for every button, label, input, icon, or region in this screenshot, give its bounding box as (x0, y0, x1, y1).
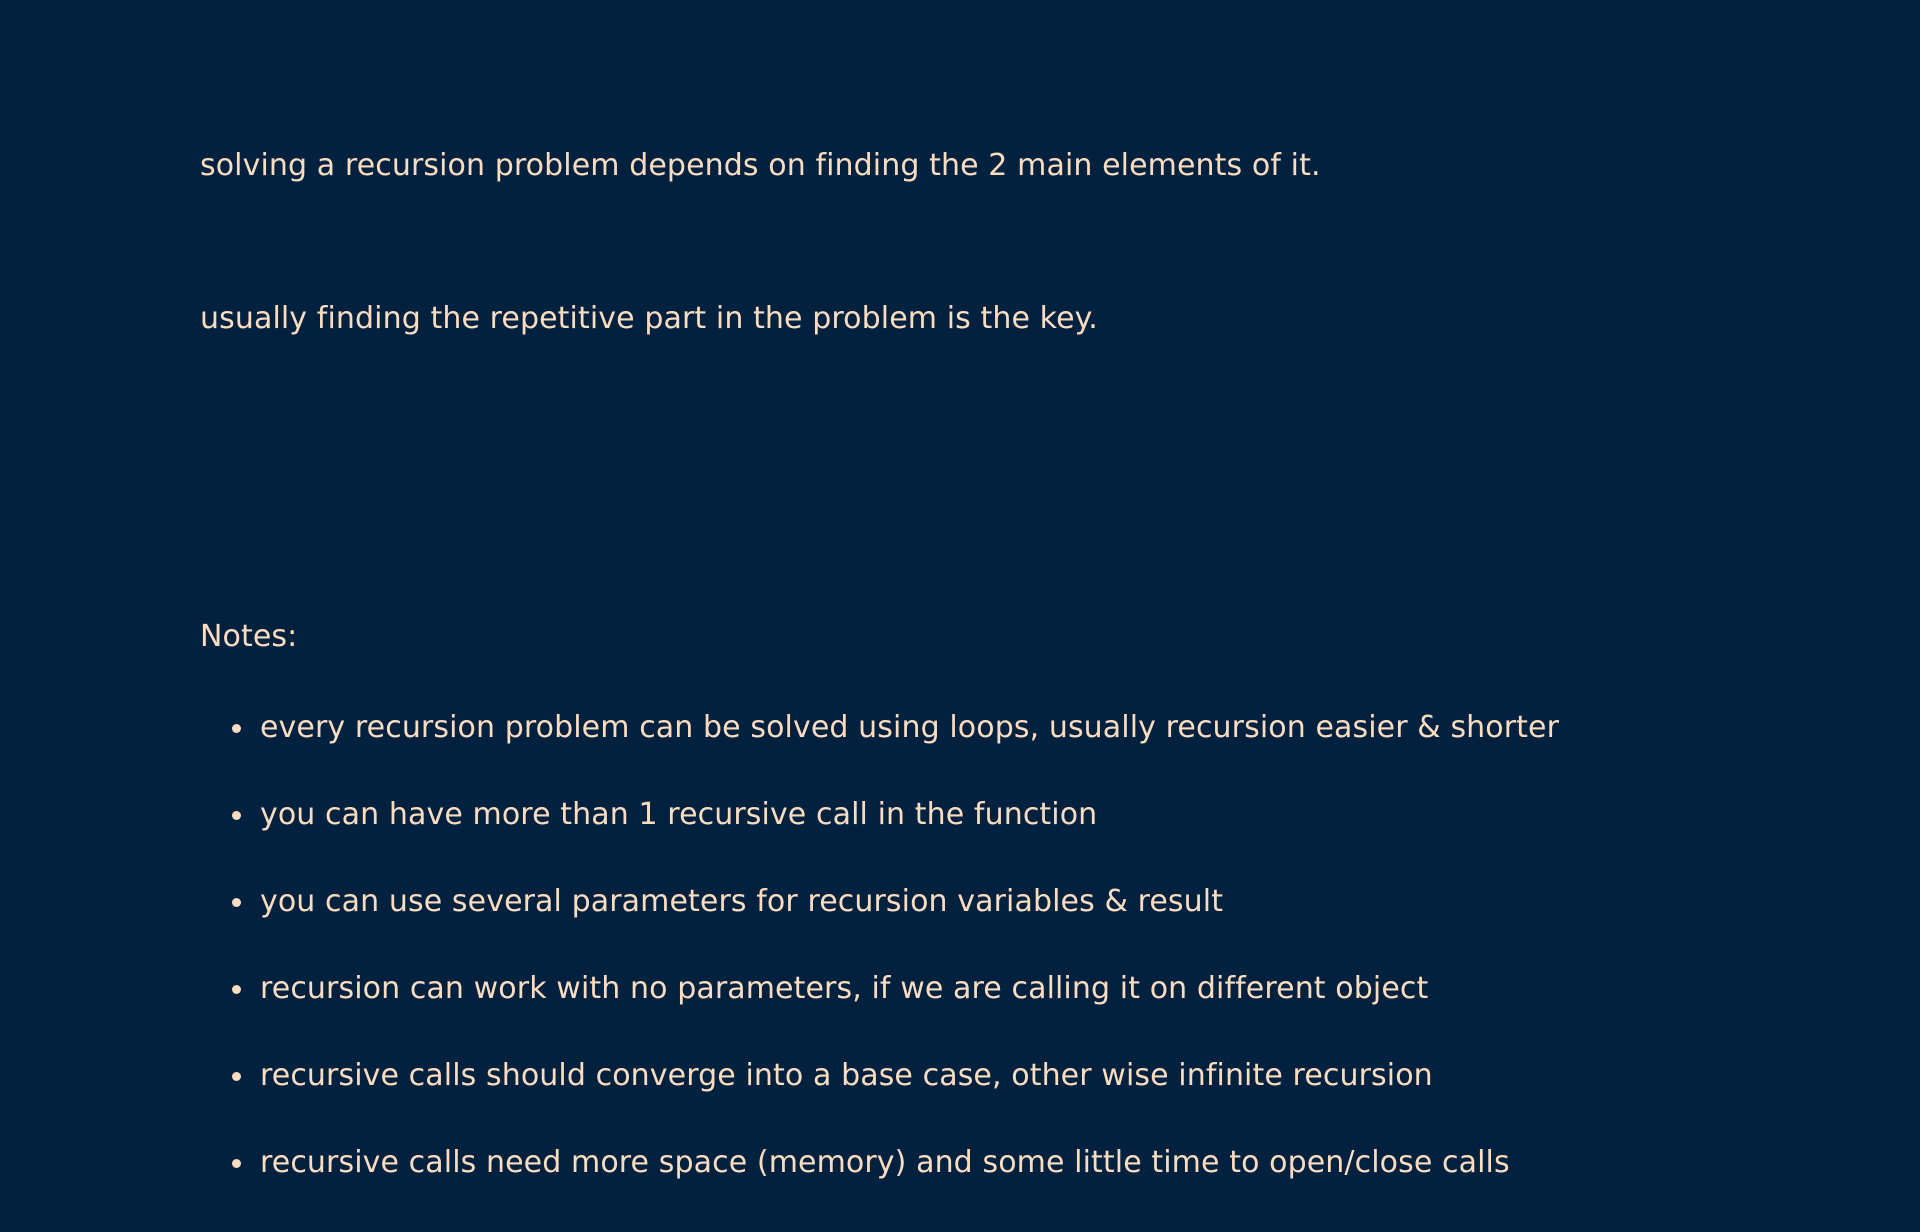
list-item: recursive calls need more space (memory)… (200, 1145, 1880, 1232)
bullet-dot-icon (232, 985, 241, 994)
list-item: every recursion problem can be solved us… (200, 710, 1880, 797)
list-item-label: recursive calls need more space (memory)… (260, 1145, 1510, 1181)
content-column: solving a recursion problem depends on f… (200, 38, 1880, 1232)
list-item: you can have more than 1 recursive call … (200, 797, 1880, 884)
list-item: you can use several parameters for recur… (200, 884, 1880, 971)
bullet-dot-icon (232, 1159, 241, 1168)
list-item-label: you can use several parameters for recur… (260, 884, 1223, 920)
notes-heading: Notes: (200, 620, 1880, 654)
intro-paragraph: solving a recursion problem depends on f… (200, 38, 1880, 446)
bullet-dot-icon (232, 1072, 241, 1081)
bullet-dot-icon (232, 811, 241, 820)
list-item-label: recursion can work with no parameters, i… (260, 971, 1428, 1007)
list-item: recursive calls should converge into a b… (200, 1058, 1880, 1145)
bullet-dot-icon (232, 898, 241, 907)
list-item-label: you can have more than 1 recursive call … (260, 797, 1097, 833)
intro-line-2: usually finding the repetitive part in t… (200, 293, 1880, 344)
bullet-dot-icon (232, 724, 241, 733)
slide-canvas: solving a recursion problem depends on f… (0, 0, 1920, 905)
notes-list: every recursion problem can be solved us… (200, 710, 1880, 1232)
list-item: recursion can work with no parameters, i… (200, 971, 1880, 1058)
list-item-label: every recursion problem can be solved us… (260, 710, 1559, 746)
list-item-label: recursive calls should converge into a b… (260, 1058, 1433, 1094)
intro-line-1: solving a recursion problem depends on f… (200, 140, 1880, 191)
